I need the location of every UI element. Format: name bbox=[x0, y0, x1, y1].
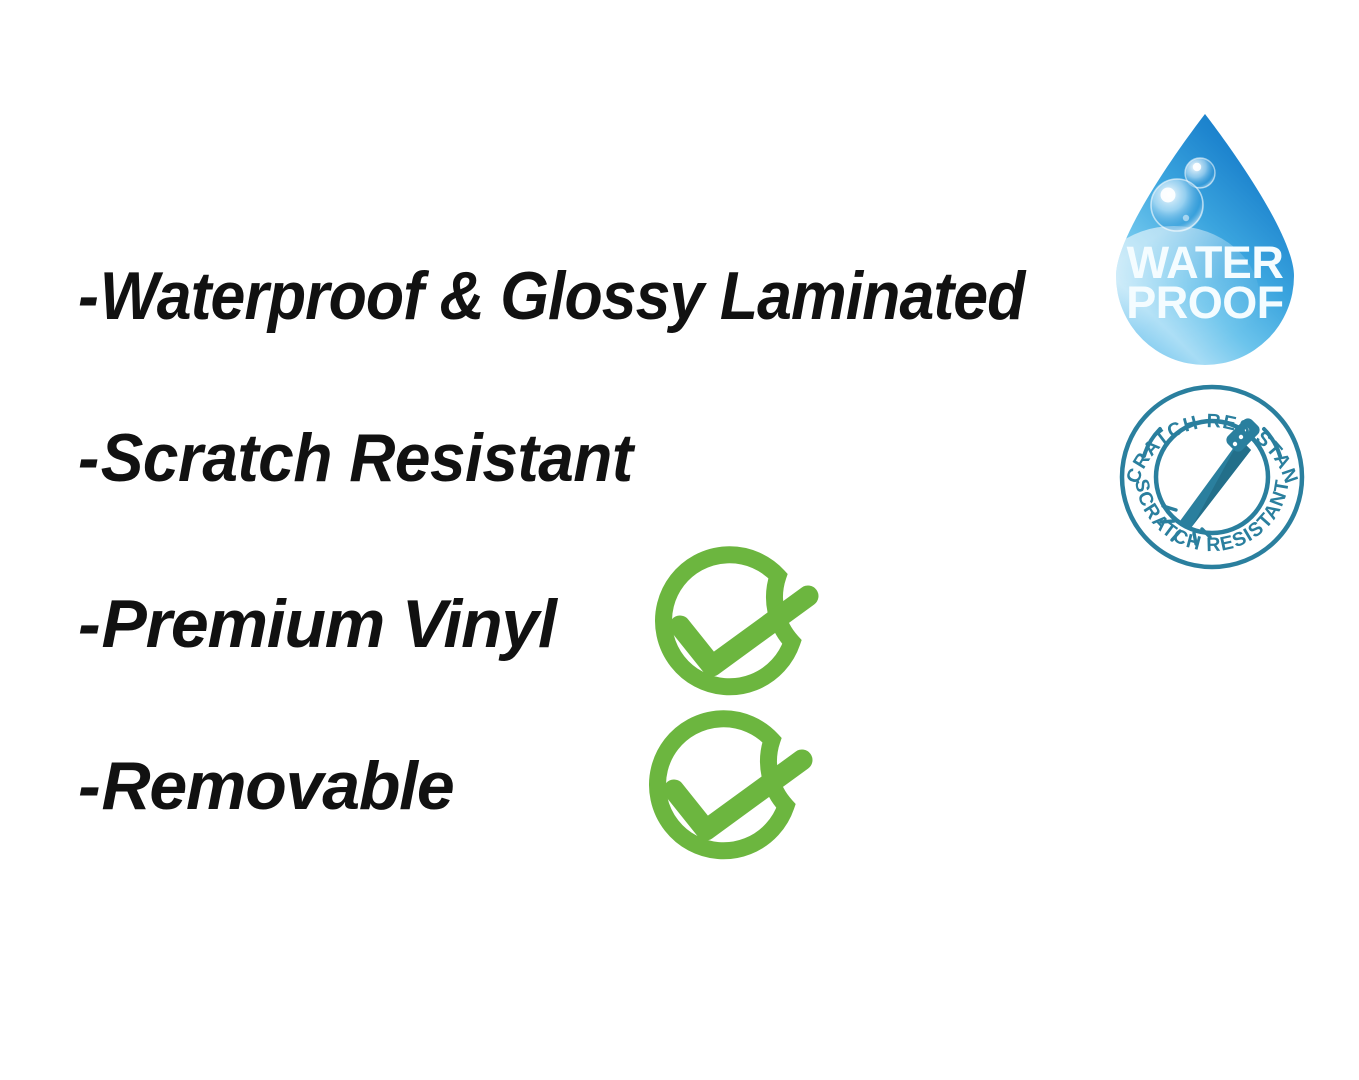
bullet-dash: - bbox=[78, 590, 99, 658]
bullet-dash: - bbox=[78, 262, 98, 330]
bullet-dash: - bbox=[78, 424, 99, 492]
scratch-resistant-stamp: SCRATCH RESISTANT SCRATCH RESISTANT bbox=[1114, 382, 1310, 572]
feature-label: Removable bbox=[101, 752, 453, 820]
feature-label: Waterproof & Glossy Laminated bbox=[100, 262, 1025, 330]
bullet-dash: - bbox=[78, 752, 99, 820]
feature-label: Scratch Resistant bbox=[101, 424, 633, 492]
feature-item-removable: -Removable bbox=[78, 752, 453, 820]
feature-item-waterproof-glossy-laminated: -Waterproof & Glossy Laminated bbox=[78, 262, 1024, 330]
waterproof-droplet-badge: WATER PROOF bbox=[1096, 100, 1314, 378]
feature-label: Premium Vinyl bbox=[101, 590, 555, 658]
green-check-circle-icon bbox=[632, 712, 842, 892]
feature-item-premium-vinyl: -Premium Vinyl bbox=[78, 590, 556, 658]
waterproof-line2: PROOF bbox=[1126, 277, 1284, 328]
feature-item-scratch-resistant: -Scratch Resistant bbox=[78, 424, 633, 492]
product-features-graphic: -Waterproof & Glossy Laminated -Scratch … bbox=[0, 0, 1359, 1080]
green-check-circle-icon bbox=[638, 548, 848, 728]
